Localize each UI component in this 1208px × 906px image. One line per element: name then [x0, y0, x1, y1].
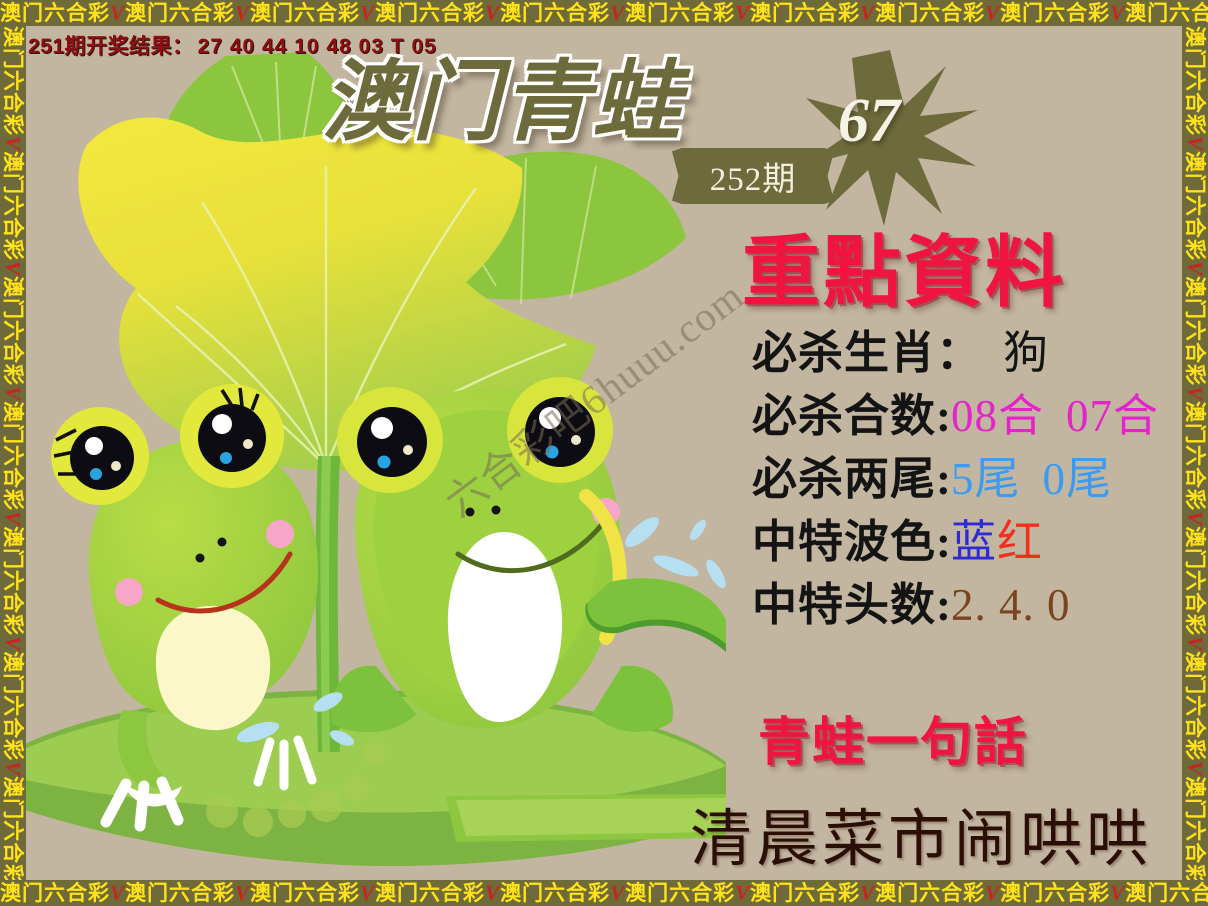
row-value: 狗	[981, 316, 1049, 381]
row-label: 中特波色	[752, 505, 936, 570]
row-label: 必杀合数	[752, 379, 936, 444]
row-value: 蓝	[951, 505, 997, 570]
row-value: 0尾	[1043, 442, 1113, 507]
row-label: 必杀两尾	[752, 442, 936, 507]
star-number: 67	[838, 86, 900, 157]
border-bottom-text: 澳门六合彩V澳门六合彩V澳门六合彩V澳门六合彩V澳门六合彩V澳门六合彩V澳门六合…	[0, 881, 1208, 905]
border-top: 澳门六合彩V澳门六合彩V澳门六合彩V澳门六合彩V澳门六合彩V澳门六合彩V澳门六合…	[0, 0, 1208, 26]
row-label: 中特头数	[752, 568, 936, 633]
row-value: 5尾	[951, 442, 1021, 507]
row-value: 07合	[1066, 379, 1159, 444]
frog-illustration	[26, 26, 726, 880]
row-colon: ：	[936, 316, 981, 381]
row-value: 红	[997, 505, 1043, 570]
table-row: 必杀生肖 ： 狗	[752, 316, 1202, 379]
row-colon: :	[936, 516, 951, 568]
border-bottom: 澳门六合彩V澳门六合彩V澳门六合彩V澳门六合彩V澳门六合彩V澳门六合彩V澳门六合…	[0, 880, 1208, 906]
row-label: 必杀生肖	[752, 316, 936, 381]
table-row: 中特波色 : 蓝 红	[752, 505, 1202, 568]
page-title: 澳门青蛙	[322, 60, 682, 148]
issue-label: 252期	[710, 152, 797, 200]
row-colon: :	[936, 390, 951, 442]
frog-phrase-text: 清晨菜市闹哄哄	[690, 788, 1152, 878]
row-value: 08合	[951, 379, 1044, 444]
poster-canvas: 67 澳门青蛙 252期 251期开奖结果：27 40 44 10 48 03 …	[0, 0, 1208, 906]
previous-draw-result: 251期开奖结果：27 40 44 10 48 03 T 05	[28, 30, 437, 60]
frog-phrase-heading: 青蛙一句話	[758, 700, 1028, 775]
issue-banner: 252期	[672, 148, 834, 204]
previous-draw-numbers: 27 40 44 10 48 03 T 05	[198, 35, 437, 58]
row-value: 2. 4. 0	[951, 579, 1071, 631]
frog-right	[331, 377, 726, 732]
key-data-heading: 重點資料	[742, 210, 1066, 322]
row-colon: :	[936, 453, 951, 505]
row-colon: :	[936, 579, 951, 631]
border-left: 澳门六合彩V澳门六合彩V澳门六合彩V澳门六合彩V澳门六合彩V澳门六合彩V澳门六合…	[0, 26, 26, 880]
table-row: 必杀两尾 : 5尾 0尾	[752, 442, 1202, 505]
table-row: 必杀合数 : 08合 07合	[752, 379, 1202, 442]
border-left-text: 澳门六合彩V澳门六合彩V澳门六合彩V澳门六合彩V澳门六合彩V澳门六合彩V澳门六合…	[0, 26, 26, 880]
previous-draw-prefix: 251期开奖结果：	[28, 35, 194, 58]
border-top-text: 澳门六合彩V澳门六合彩V澳门六合彩V澳门六合彩V澳门六合彩V澳门六合彩V澳门六合…	[0, 1, 1208, 25]
table-row: 中特头数 : 2. 4. 0	[752, 568, 1202, 631]
key-data-rows: 必杀生肖 ： 狗 必杀合数 : 08合 07合 必杀两尾 : 5尾 0尾 中特波…	[752, 316, 1202, 631]
